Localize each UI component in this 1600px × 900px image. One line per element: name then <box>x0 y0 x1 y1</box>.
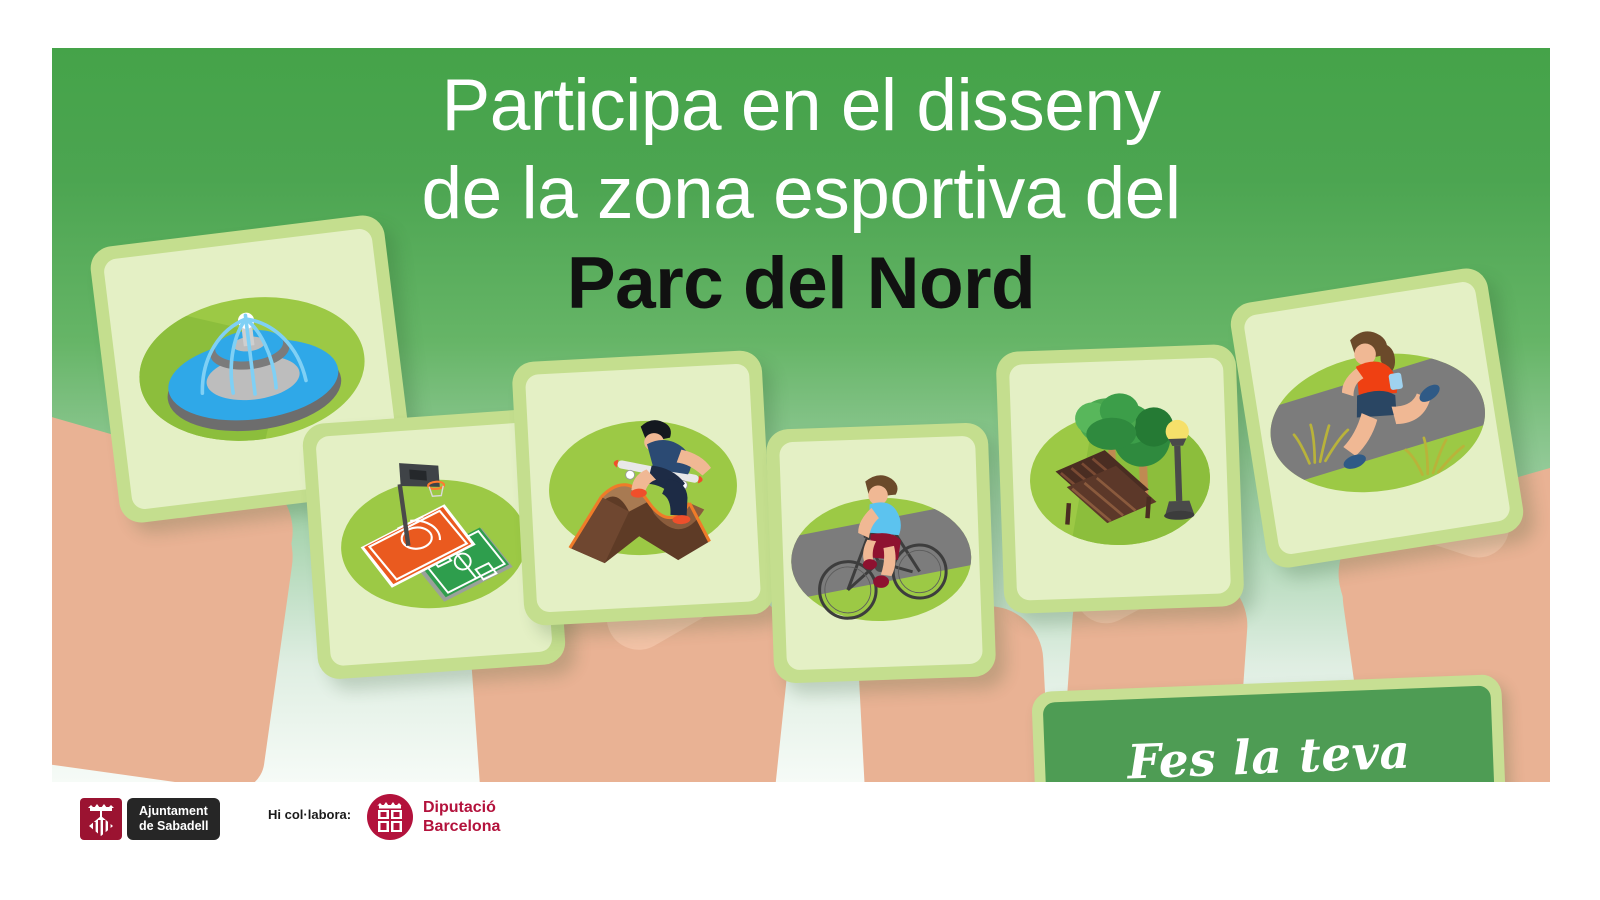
sabadell-crest-icon <box>80 798 122 840</box>
cta-line-1: Fes la teva <box>1126 724 1411 790</box>
bench-tree-lamp-icon <box>1009 357 1231 600</box>
diputacio-line-2: Barcelona <box>423 818 500 835</box>
sabadell-name-box: Ajuntament de Sabadell <box>127 798 220 840</box>
green-banner-panel: Participa en el disseny de la zona espor… <box>52 48 1550 782</box>
runner-icon <box>1243 280 1512 556</box>
headline-line-1: Participa en el disseny <box>52 62 1550 150</box>
skateboard-ramp-icon <box>525 363 761 612</box>
banner-stage: Participa en el disseny de la zona espor… <box>0 0 1600 900</box>
sabadell-line-2: de Sabadell <box>139 819 208 834</box>
headline-line-2: de la zona esportiva del <box>52 150 1550 238</box>
sabadell-line-1: Ajuntament <box>139 804 208 819</box>
card-runner-art <box>1243 280 1512 556</box>
footer-logos: Ajuntament de Sabadell Hi col·labora: <box>0 782 1600 900</box>
logo-diputacio-barcelona[interactable]: Diputació Barcelona <box>367 794 500 840</box>
cyclist-icon <box>779 436 983 671</box>
diputacio-line-1: Diputació <box>423 799 496 816</box>
card-skate-art <box>525 363 761 612</box>
logo-ajuntament-sabadell[interactable]: Ajuntament de Sabadell <box>80 798 220 840</box>
card-runner[interactable] <box>1228 265 1527 570</box>
diputacio-name: Diputació Barcelona <box>423 798 500 836</box>
card-skate[interactable] <box>511 350 774 627</box>
card-bike-art <box>779 436 983 671</box>
card-bench[interactable] <box>996 344 1245 614</box>
card-bike[interactable] <box>766 422 997 684</box>
collaborate-label: Hi col·labora: <box>268 807 351 822</box>
card-bench-art <box>1009 357 1231 600</box>
diputacio-crest-icon <box>367 794 413 840</box>
